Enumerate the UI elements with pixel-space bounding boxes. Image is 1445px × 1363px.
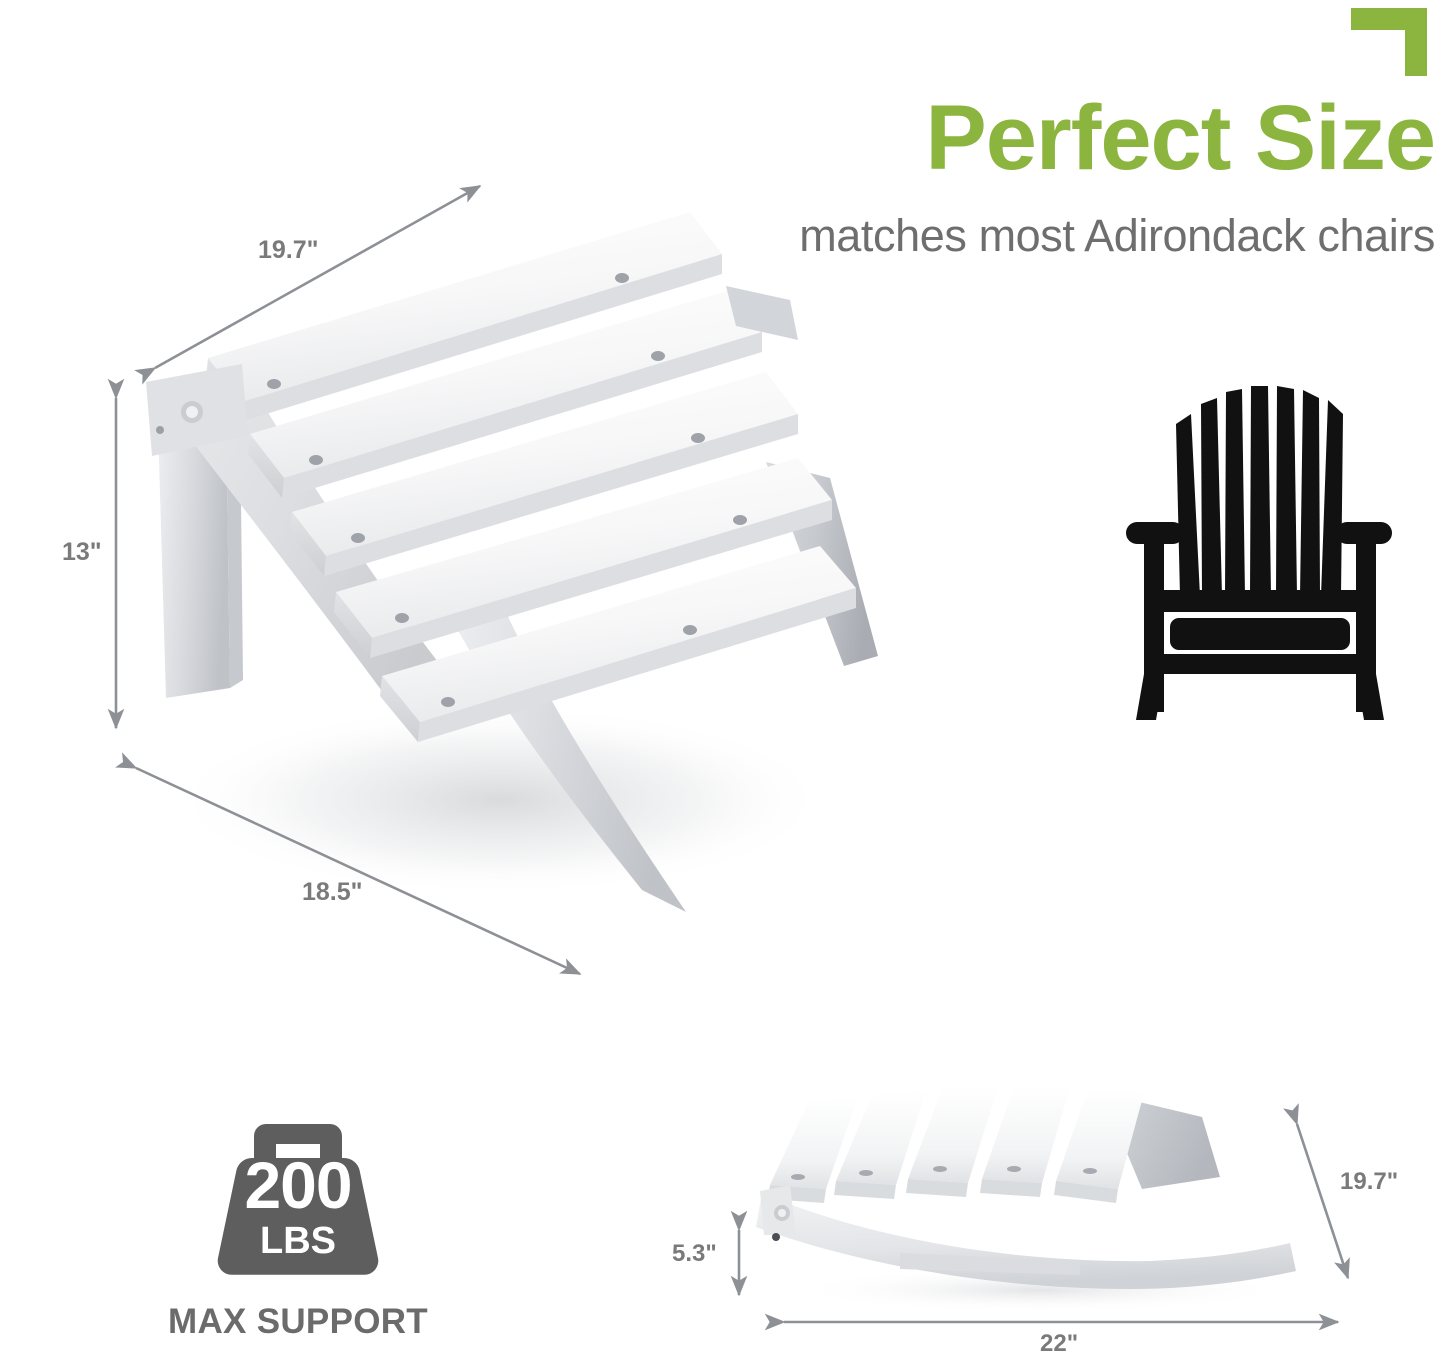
dimension-label-height-folded: 5.3" — [672, 1240, 717, 1268]
dimension-label-height-main: 13" — [62, 538, 102, 567]
max-support-caption: MAX SUPPORT — [148, 1302, 448, 1342]
folded-side-rail — [756, 1193, 1296, 1289]
ottoman-shadow — [170, 704, 830, 896]
ottoman-main-render — [130, 190, 930, 950]
weight-value: 200 — [200, 1152, 396, 1218]
dimension-label-depth-folded: 19.7" — [1340, 1168, 1398, 1196]
weight-unit: LBS — [200, 1222, 396, 1260]
dimension-label-depth-main: 18.5" — [302, 878, 363, 907]
weight-badge-text: 200 LBS — [200, 1152, 396, 1260]
dimension-label-width-folded: 22" — [1040, 1330, 1078, 1358]
product-infographic: Perfect Size matches most Adirondack cha… — [0, 0, 1445, 1363]
corner-bracket-icon — [1351, 8, 1427, 76]
corner-bracket-vertical-bar — [1405, 8, 1427, 76]
adirondack-chair-icon — [1108, 382, 1408, 724]
dimension-label-width-main: 19.7" — [258, 236, 319, 265]
ottoman-folded-render — [750, 1085, 1320, 1315]
max-support-badge: 200 LBS MAX SUPPORT — [148, 1118, 448, 1342]
page-title: Perfect Size — [575, 92, 1435, 184]
